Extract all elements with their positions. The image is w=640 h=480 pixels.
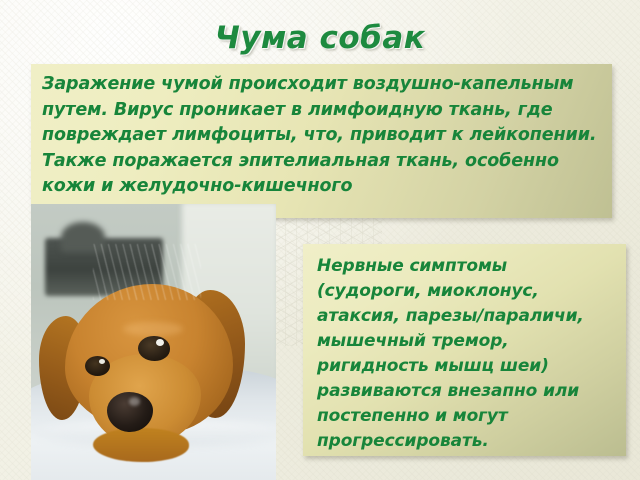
nerve-symptoms-body: Нервные симптомы (судороги, миоклонус, а… xyxy=(317,254,614,454)
photo-dog-eye-right xyxy=(138,336,170,361)
photo-dog-nose-highlight xyxy=(129,397,140,406)
page-title: Чума собак xyxy=(0,20,640,56)
nerve-symptoms-panel: Нервные симптомы (судороги, миоклонус, а… xyxy=(303,244,626,456)
presentation-slide: Чума собак Заражение чумой происходит во… xyxy=(0,0,640,480)
photo-dog-fur-wisps xyxy=(93,244,201,300)
photo-dog-brow xyxy=(123,322,183,336)
dog-photo xyxy=(31,204,276,480)
photo-dog-eye-left xyxy=(85,356,110,376)
photo-dog-chin xyxy=(93,428,189,462)
main-text-panel: Заражение чумой происходит воздушно-капе… xyxy=(31,64,612,218)
photo-dog-eye-right-glint xyxy=(156,339,164,346)
main-text-body: Заражение чумой происходит воздушно-капе… xyxy=(42,72,598,200)
photo-dog-eye-left-glint xyxy=(99,359,105,364)
